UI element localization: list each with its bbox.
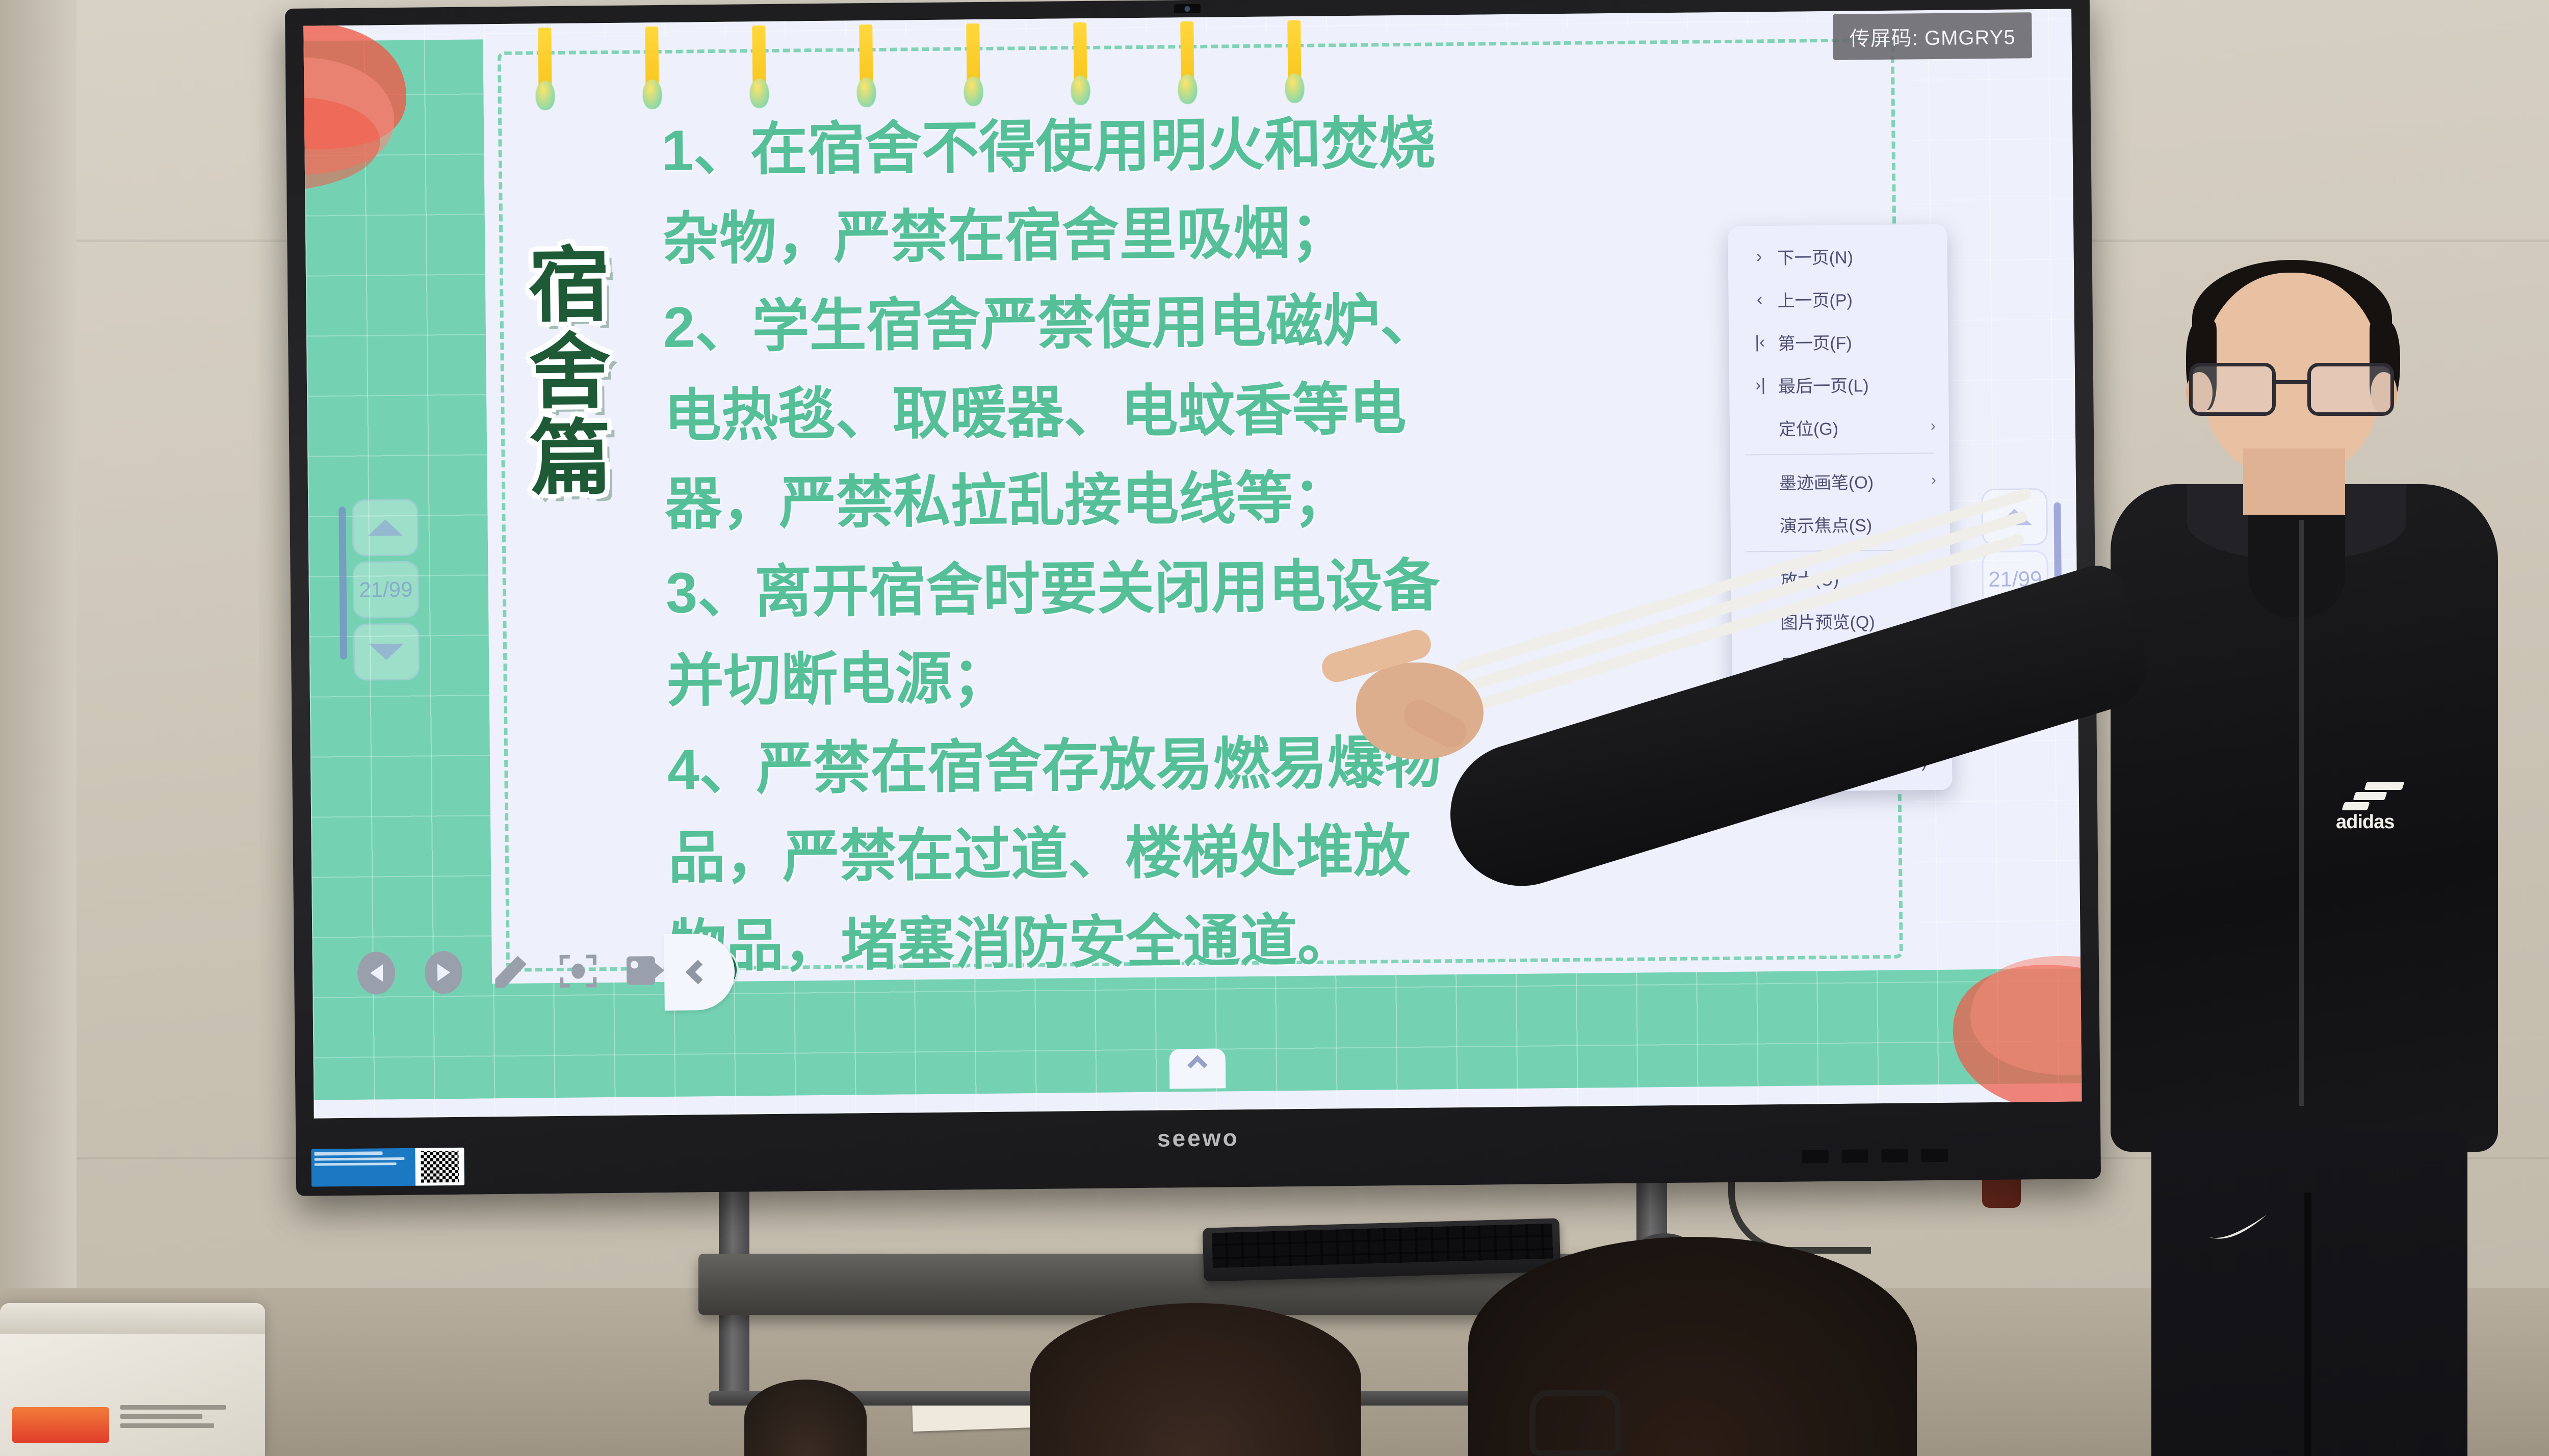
nike-logo <box>2202 1213 2269 1240</box>
menu-item-label: 第一页(F) <box>1778 328 1930 355</box>
audience-head <box>1030 1303 1361 1456</box>
inner-shirt <box>2248 510 2345 617</box>
chevron-left-icon: ‹ <box>1741 289 1777 309</box>
slide-body-line: 2、学生宿舍严禁使用电磁炉、 <box>663 274 1886 369</box>
qr-code <box>421 1151 459 1183</box>
asset-tag-label <box>311 1148 464 1187</box>
prev-slide-button[interactable] <box>357 951 396 995</box>
vertical-title-char: 篇 <box>507 415 636 502</box>
camcorder-icon <box>627 956 665 985</box>
vertical-title-char: 舍 <box>506 328 635 416</box>
next-slide-button[interactable] <box>425 951 463 994</box>
page-up-button-left[interactable] <box>352 499 419 557</box>
pen-tool-button[interactable] <box>492 950 530 994</box>
cast-code-badge: 传屏码: GMGRY5 <box>1833 12 2032 60</box>
appliance-text-block <box>120 1405 238 1433</box>
pen-icon <box>495 956 527 988</box>
presenter: adidas <box>1983 245 2549 1456</box>
slide-vertical-title: 宿 舍 篇 <box>505 242 635 502</box>
jacket-zipper <box>2299 520 2304 1106</box>
blank-icon-slot <box>1743 428 1779 428</box>
menu-separator <box>1745 453 1934 456</box>
menu-item-first-page[interactable]: |‹ 第一页(F) <box>1729 319 1948 364</box>
slide-body-line: 杂物，严禁在宿舍里吸烟； <box>662 186 1885 281</box>
screenshot-root: 宿 舍 篇 1、在宿舍不得使用明火和焚烧 杂物，严禁在宿舍里吸烟； 2、学生宿舍… <box>0 0 2549 1456</box>
slide-body-line: 物品，堵塞消防安全通道。 <box>669 893 1892 989</box>
menu-item-label: 墨迹画笔(O) <box>1779 468 1926 494</box>
menu-item-label: 下一页(N) <box>1777 243 1929 269</box>
expand-toolbar-button[interactable] <box>1169 1048 1226 1089</box>
appliance-warning-label <box>12 1407 109 1443</box>
adidas-logo: adidas <box>2335 780 2411 841</box>
focus-tool-button[interactable] <box>559 949 597 993</box>
menu-item-last-page[interactable]: ›| 最后一页(L) <box>1729 362 1949 407</box>
presenter-trousers <box>2151 1131 2467 1456</box>
page-down-button-left[interactable] <box>353 623 420 681</box>
menu-item-next-page[interactable]: › 下一页(N) <box>1728 233 1947 278</box>
wall-appliance <box>0 1303 265 1456</box>
keyboard[interactable] <box>1203 1218 1561 1282</box>
spotlight-icon <box>560 955 597 988</box>
menu-item-previous-page[interactable]: ‹ 上一页(P) <box>1728 276 1948 321</box>
slide-body-line: 器，严禁私拉乱接电线等； <box>664 451 1887 546</box>
scrollbar-thumb-left[interactable] <box>339 507 347 659</box>
menu-item-label: 最后一页(L) <box>1778 371 1930 398</box>
menu-item-ink-pen[interactable]: 墨迹画笔(O) › <box>1730 459 1950 504</box>
submenu-arrow: › <box>1926 471 1936 489</box>
blank-icon-slot <box>1744 524 1780 525</box>
camera-module <box>1174 4 1201 13</box>
adidas-wordmark: adidas <box>2336 811 2394 833</box>
vertical-title-char: 宿 <box>505 242 634 330</box>
chevron-right-icon: › <box>1741 246 1777 267</box>
presenter-neck <box>2243 448 2345 515</box>
presenter-hand-pointing <box>1325 632 1494 764</box>
slide-body-line: 电热毯、取暖器、电蚊香等电 <box>664 362 1887 458</box>
record-button[interactable] <box>627 949 665 992</box>
port-row <box>1802 1149 1948 1163</box>
wall-corner-left <box>0 0 76 1456</box>
audience-head <box>744 1380 867 1456</box>
slide-body-line: 1、在宿舍不得使用明火和焚烧 <box>661 97 1884 193</box>
eyeglasses <box>2189 363 2394 418</box>
last-page-icon: ›| <box>1742 375 1778 395</box>
slide-body-text: 1、在宿舍不得使用明火和焚烧 杂物，严禁在宿舍里吸烟； 2、学生宿舍严禁使用电磁… <box>661 97 1892 993</box>
chevron-up-icon <box>1187 1055 1208 1075</box>
first-page-icon: |‹ <box>1742 332 1778 352</box>
menu-item-label: 上一页(P) <box>1777 285 1929 312</box>
menu-item-label: 定位(G) <box>1779 414 1926 440</box>
display-brand-logo: seewo <box>1157 1124 1239 1152</box>
page-stepper-left[interactable]: 21/99 <box>352 499 420 686</box>
submenu-arrow: › <box>1926 417 1936 435</box>
blank-icon-slot <box>1744 482 1779 482</box>
page-indicator-left: 21/99 <box>352 561 419 619</box>
menu-item-goto[interactable]: 定位(G) › <box>1730 405 1949 449</box>
chevron-left-icon <box>686 960 710 984</box>
audience-eyeglasses <box>1529 1390 1621 1456</box>
